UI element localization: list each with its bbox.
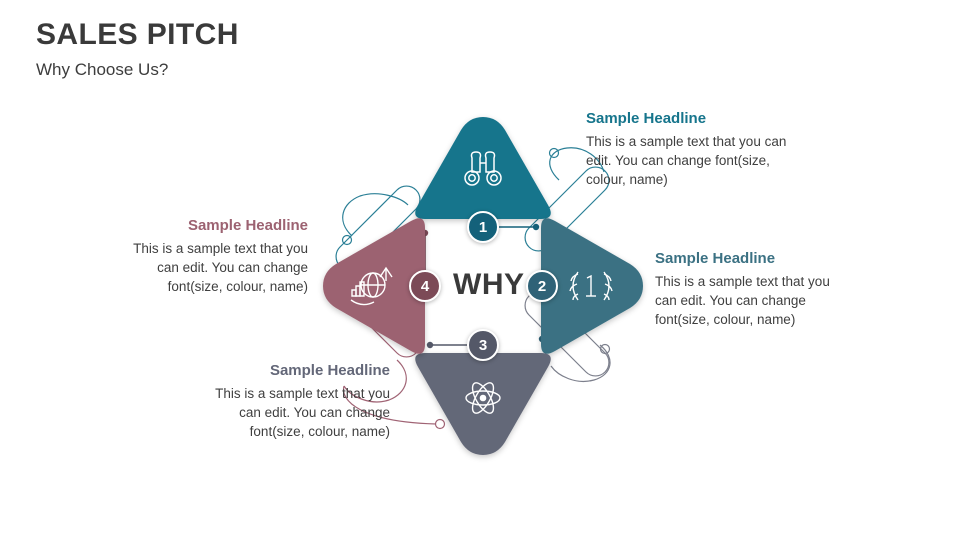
block-3-body: This is a sample text that you can edit.… [190, 384, 390, 441]
why-choose-us-diagram: WHY 1 2 3 4 Sample Headline This is a sa… [0, 0, 960, 540]
segment-badge-3[interactable]: 3 [467, 329, 499, 361]
block-1-headline: Sample Headline [586, 110, 791, 128]
text-block-2: Sample Headline This is a sample text th… [655, 250, 855, 329]
text-block-1: Sample Headline This is a sample text th… [586, 110, 791, 189]
center-label: WHY [453, 270, 525, 300]
segment-badge-4[interactable]: 4 [409, 270, 441, 302]
block-3-headline: Sample Headline [190, 362, 390, 380]
block-4-body: This is a sample text that you can edit.… [108, 239, 308, 296]
text-block-4: Sample Headline This is a sample text th… [108, 217, 308, 296]
segment-triangle-top[interactable] [415, 117, 551, 219]
segment-badge-1[interactable]: 1 [467, 211, 499, 243]
text-block-3: Sample Headline This is a sample text th… [190, 362, 390, 441]
block-2-body: This is a sample text that you can edit.… [655, 272, 855, 329]
block-4-headline: Sample Headline [108, 217, 308, 235]
segment-triangle-bottom[interactable] [415, 353, 551, 455]
block-2-headline: Sample Headline [655, 250, 855, 268]
segment-badge-2[interactable]: 2 [526, 270, 558, 302]
block-1-body: This is a sample text that you can edit.… [586, 132, 791, 189]
